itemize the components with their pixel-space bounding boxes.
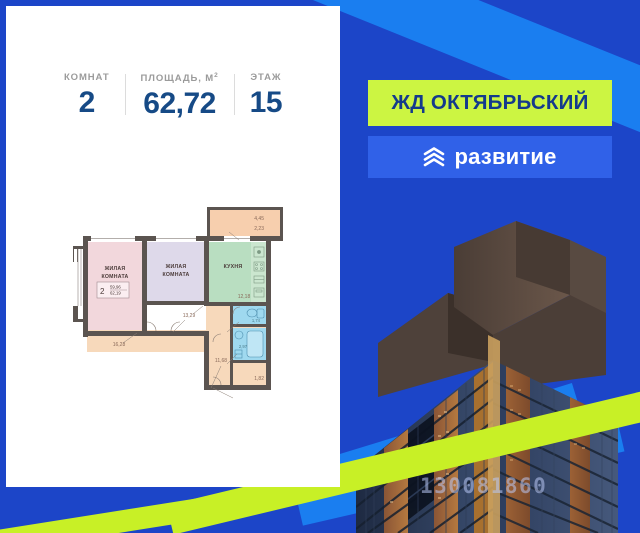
screenshot-root: 130081860 ЖД ОКТЯБРЬСКИЙ развитие КОМНАТ… bbox=[0, 0, 640, 533]
stat-rooms-label: КОМНАТ bbox=[64, 72, 110, 83]
kitchen-area: 12,18 bbox=[238, 294, 251, 300]
stat-rooms: КОМНАТ 2 bbox=[49, 72, 125, 119]
living-room-1-name-2: КОМНАТА bbox=[101, 274, 128, 280]
living-room-2-name-2: КОМНАТА bbox=[162, 272, 189, 278]
stat-area-label: ПЛОЩАДЬ, М2 bbox=[141, 72, 219, 84]
balcony-fill bbox=[209, 209, 281, 236]
corridor-area: 11,68 bbox=[215, 358, 227, 364]
stat-area-value: 62,72 bbox=[143, 89, 216, 119]
storage-fill bbox=[233, 364, 267, 386]
stat-floor-label: ЭТАЖ bbox=[250, 72, 281, 83]
balcony-area-2: 2,23 bbox=[254, 226, 264, 232]
badge-total: 62,19 bbox=[110, 291, 121, 296]
living-room-2-area: 13,29 bbox=[183, 313, 196, 319]
balcony-area-1: 4,45 bbox=[254, 216, 264, 222]
diagonal-stripe-lightblue-top bbox=[309, 0, 640, 156]
stats-row: КОМНАТ 2 ПЛОЩАДЬ, М2 62,72 ЭТАЖ 15 bbox=[6, 72, 340, 119]
bath-large-area: 2,97 bbox=[239, 344, 248, 349]
badge-rooms: 2 bbox=[100, 287, 105, 296]
stat-floor-value: 15 bbox=[250, 88, 282, 118]
floorplan: 2 59,96 62,19 ЖИЛАЯ КОМНАТА ЖИЛАЯ КОМНАТ… bbox=[61, 202, 311, 402]
storage-area: 1,82 bbox=[254, 376, 264, 382]
living-room-1-name-1: ЖИЛАЯ bbox=[104, 266, 126, 272]
kitchen-name: КУХНЯ bbox=[224, 264, 243, 270]
stat-area: ПЛОЩАДЬ, М2 62,72 bbox=[126, 72, 234, 119]
badge-living: 59,96 bbox=[110, 285, 121, 290]
stat-rooms-value: 2 bbox=[79, 88, 95, 118]
bath-small-area: 1,74 bbox=[252, 318, 261, 323]
area-badge: 2 59,96 62,19 bbox=[97, 282, 129, 298]
listing-card: КОМНАТ 2 ПЛОЩАДЬ, М2 62,72 ЭТАЖ 15 bbox=[6, 6, 340, 487]
project-badge-label: ЖД ОКТЯБРЬСКИЙ bbox=[392, 91, 589, 115]
project-badge: ЖД ОКТЯБРЬСКИЙ bbox=[368, 80, 612, 126]
living-room-2-name-1: ЖИЛАЯ bbox=[165, 264, 187, 270]
developer-badge-label: развитие bbox=[454, 144, 556, 170]
triple-chevron-icon bbox=[423, 146, 445, 168]
developer-badge: развитие bbox=[368, 136, 612, 178]
stat-floor: ЭТАЖ 15 bbox=[235, 72, 297, 119]
